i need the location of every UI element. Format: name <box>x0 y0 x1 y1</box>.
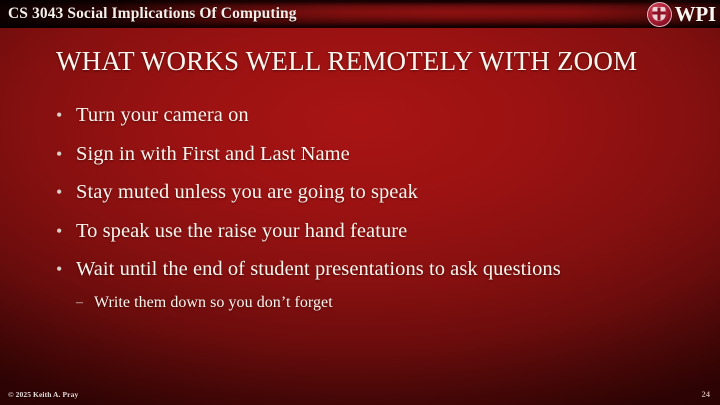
bullet-marker-icon: • <box>56 256 76 282</box>
bullet-text: Sign in with First and Last Name <box>76 141 696 167</box>
slide-title: WHAT WORKS WELL REMOTELY WITH ZOOM <box>56 46 676 77</box>
bullet-item: • Stay muted unless you are going to spe… <box>56 179 696 205</box>
bullet-item: • Turn your camera on <box>56 102 696 128</box>
sub-bullet-marker-icon: – <box>76 292 94 314</box>
bullet-item: • Sign in with First and Last Name <box>56 141 696 167</box>
wpi-logo: WPI <box>647 0 716 28</box>
bullet-text: Stay muted unless you are going to speak <box>76 179 696 205</box>
bullet-marker-icon: • <box>56 141 76 167</box>
wpi-seal-icon <box>647 2 672 27</box>
course-title: CS 3043 Social Implications Of Computing <box>8 1 297 27</box>
bullet-item: • Wait until the end of student presenta… <box>56 256 696 282</box>
bullet-text: To speak use the raise your hand feature <box>76 218 696 244</box>
sub-bullet-text: Write them down so you don’t forget <box>94 292 696 314</box>
bullet-text: Turn your camera on <box>76 102 696 128</box>
slide-canvas: CS 3043 Social Implications Of Computing… <box>0 0 720 405</box>
wpi-wordmark: WPI <box>675 3 716 26</box>
sub-bullet-item: – Write them down so you don’t forget <box>76 292 696 314</box>
slide-body: • Turn your camera on • Sign in with Fir… <box>56 102 696 324</box>
copyright-notice: © 2025 Keith A. Pray <box>8 390 78 399</box>
bullet-marker-icon: • <box>56 179 76 205</box>
bullet-marker-icon: • <box>56 102 76 128</box>
page-number: 24 <box>702 389 711 399</box>
bullet-marker-icon: • <box>56 218 76 244</box>
bullet-text: Wait until the end of student presentati… <box>76 256 696 282</box>
bullet-item: • To speak use the raise your hand featu… <box>56 218 696 244</box>
